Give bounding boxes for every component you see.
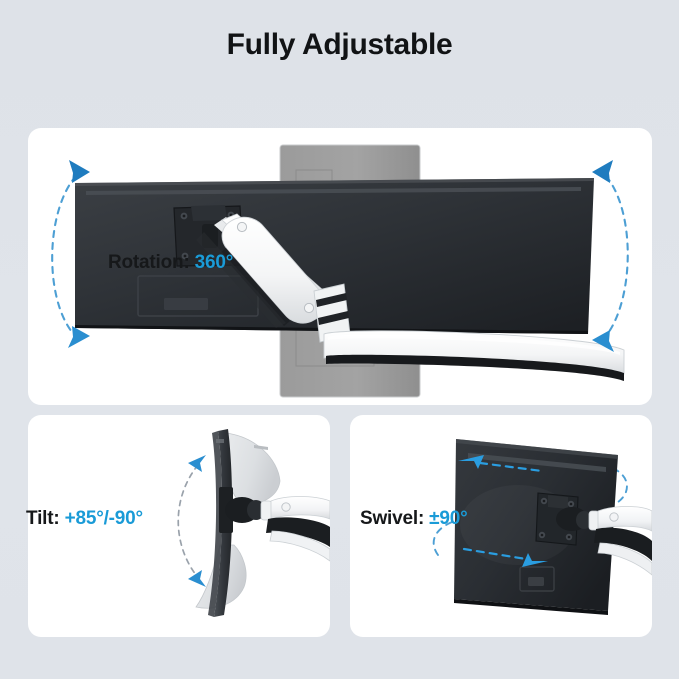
label-tilt: Tilt: +85°/-90° [26,508,143,530]
monitor-mount-arm-tilt [266,497,330,562]
label-rotation-value: 360° [195,252,234,273]
product-feature-graphic: Fully Adjustable [0,0,679,679]
label-swivel: Swivel: ±90° [360,508,468,530]
tilt-arrowhead-up [188,455,206,472]
label-tilt-prefix: Tilt: [26,508,59,529]
tilt-arrow-arc [178,465,198,575]
label-rotation-prefix: Rotation: [108,252,190,273]
label-tilt-value: +85°/-90° [65,508,143,529]
rotation-arrow-right [606,176,628,336]
label-swivel-prefix: Swivel: [360,508,424,529]
page-title: Fully Adjustable [0,28,679,62]
rotation-arrow-left [52,176,76,332]
label-rotation: Rotation: 360° [108,252,233,274]
tilt-arrowhead-down [188,570,206,587]
label-swivel-value: ±90° [429,508,467,529]
rotation-arrowhead-bottom-left [68,326,90,348]
